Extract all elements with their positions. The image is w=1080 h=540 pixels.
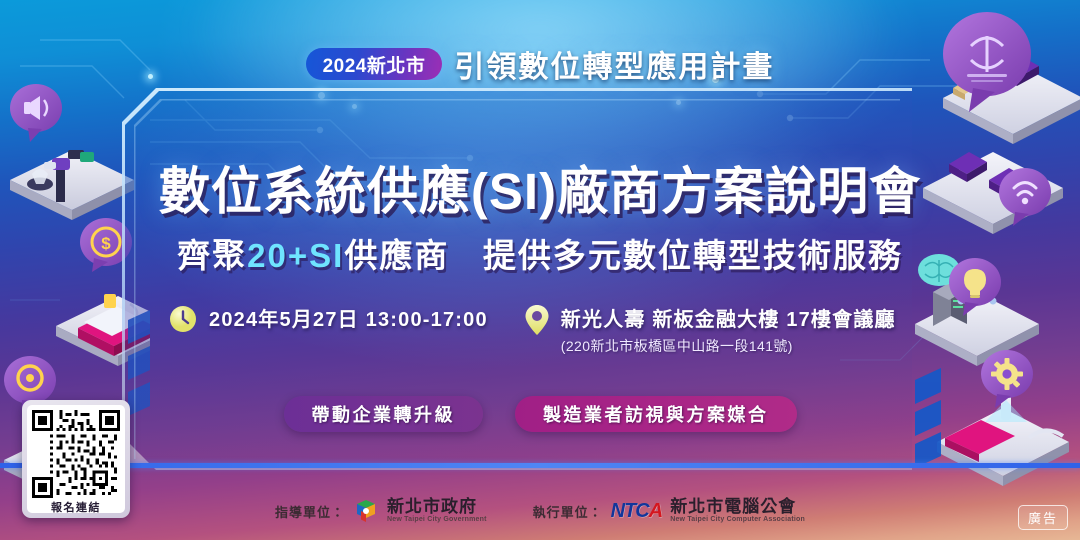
guidance-org-zh: 新北市政府 [387,498,487,516]
execution-org: 執行單位： NTCA 新北市電腦公會 New Taipei City Compu… [533,498,805,523]
guidance-org-en: New Taipei City Government [387,516,487,523]
banner-header: 2024新北市 引領數位轉型應用計畫 [0,42,1080,86]
event-datetime-text: 2024年5月27日 13:00-17:00 [209,303,488,332]
event-venue-text: 新光人壽 新板金融大樓 17樓會議廳 [561,303,896,332]
program-title: 引領數位轉型應用計畫 [454,42,774,86]
clock-icon [168,304,198,334]
main-title: 數位系統供應(SI)廠商方案說明會 [0,166,1080,217]
ntca-logo-icon: NTCA [611,500,663,523]
event-address-text: (220新北市板橋區中山路一段141號) [561,336,896,356]
guidance-label: 指導單位： [275,502,345,521]
sub-title-suffix: 提供多元數位轉型技術服務 [483,237,903,274]
promo-banner: $ [0,0,1080,540]
map-pin-icon [524,304,550,336]
footer-divider-line [0,463,1080,468]
guidance-org: 指導單位： 新北市政府 New Taipei City Government [275,498,487,524]
execution-org-en: New Taipei City Computer Association [670,516,805,523]
execution-org-names: 新北市電腦公會 New Taipei City Computer Associa… [670,498,805,523]
feature-pill-1[interactable]: 帶動企業轉升級 [284,396,484,432]
event-info-row: 2024年5月27日 13:00-17:00 新光人壽 新板金融大樓 17樓會議… [168,303,928,356]
sub-title: 齊聚20+SI供應商 提供多元數位轉型技術服務 [0,236,1080,276]
qr-white-frame: 報名連結 [27,405,125,513]
event-datetime-block: 2024年5月27日 13:00-17:00 [168,303,488,334]
new-taipei-city-government-logo-icon [353,498,379,524]
event-location-block: 新光人壽 新板金融大樓 17樓會議廳 (220新北市板橋區中山路一段141號) [524,303,896,356]
sub-title-highlight: 20+SI [247,237,344,274]
banner-footer: 指導單位： 新北市政府 New Taipei City Government 執… [0,498,1080,524]
execution-label: 執行單位： [533,502,603,521]
sub-title-middle: 供應商 [344,237,449,274]
feature-pill-row: 帶動企業轉升級 製造業者訪視與方案媒合 [0,396,1080,432]
year-badge: 2024新北市 [306,48,443,80]
guidance-org-names: 新北市政府 New Taipei City Government [387,498,487,523]
feature-pill-2[interactable]: 製造業者訪視與方案媒合 [515,396,797,432]
sub-title-prefix: 齊聚 [177,237,247,274]
qr-code-icon[interactable] [32,410,120,498]
execution-org-zh: 新北市電腦公會 [670,498,805,516]
ntca-mark-b: A [649,500,662,522]
ntca-mark-a: NTC [611,500,649,522]
ad-badge: 廣告 [1018,505,1068,530]
